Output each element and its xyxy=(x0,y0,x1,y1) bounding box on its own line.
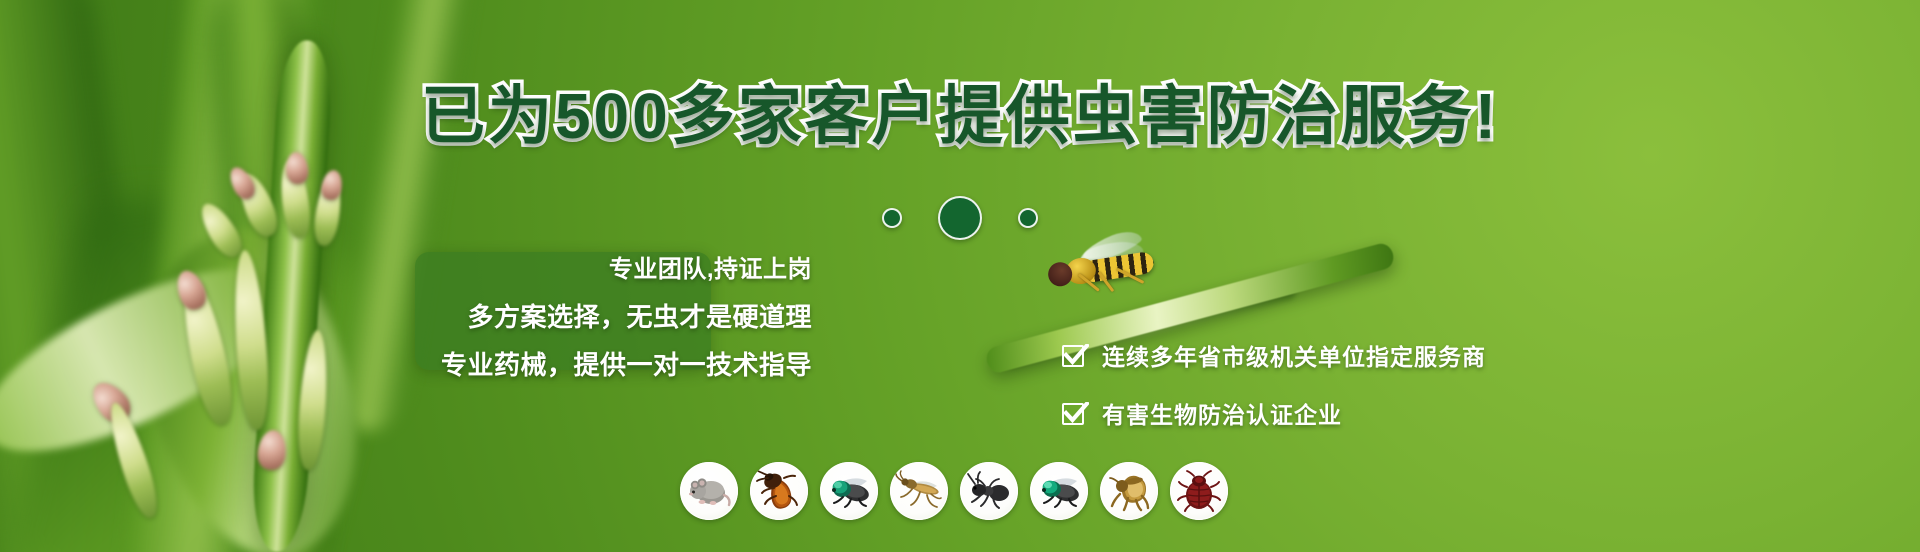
pest-icon-row xyxy=(680,462,1228,520)
bedbug-icon[interactable] xyxy=(1170,462,1228,520)
promo-line-3: 专业药械，提供一对一技术指导 xyxy=(300,352,812,378)
checkbox-check-icon xyxy=(1060,340,1090,370)
checklist-item: 有害生物防治认证企业 xyxy=(1060,396,1486,430)
housefly-icon[interactable] xyxy=(820,462,878,520)
promo-line-2: 多方案选择，无虫才是硬道理 xyxy=(300,304,812,330)
checklist-item-label: 连续多年省市级机关单位指定服务商 xyxy=(1102,338,1486,372)
blowfly-icon[interactable] xyxy=(1030,462,1088,520)
ant-icon[interactable] xyxy=(960,462,1018,520)
dot-large-center xyxy=(938,196,982,240)
checklist-item-label: 有害生物防治认证企业 xyxy=(1102,396,1342,430)
page-title: 已为500多家客户提供虫害防治服务! xyxy=(0,84,1920,148)
mosquito-icon[interactable] xyxy=(890,462,948,520)
checklist-item: 连续多年省市级机关单位指定服务商 xyxy=(1060,338,1486,372)
cockroach-icon[interactable] xyxy=(750,462,808,520)
pest-control-banner: 已为500多家客户提供虫害防治服务! 专业团队,持证上岗 多方案选择，无虫才是硬… xyxy=(0,0,1920,552)
flea-icon[interactable] xyxy=(1100,462,1158,520)
dot-small-left xyxy=(882,208,902,228)
dot-small-right xyxy=(1018,208,1038,228)
promo-line-1: 专业团队,持证上岗 xyxy=(300,258,812,282)
promo-text-block: 专业团队,持证上岗 多方案选择，无虫才是硬道理 专业药械，提供一对一技术指导 xyxy=(300,258,860,378)
decorative-dots xyxy=(0,196,1920,240)
checkbox-check-icon xyxy=(1060,398,1090,428)
credentials-checklist: 连续多年省市级机关单位指定服务商 有害生物防治认证企业 xyxy=(1060,338,1486,454)
rat-icon[interactable] xyxy=(680,462,738,520)
